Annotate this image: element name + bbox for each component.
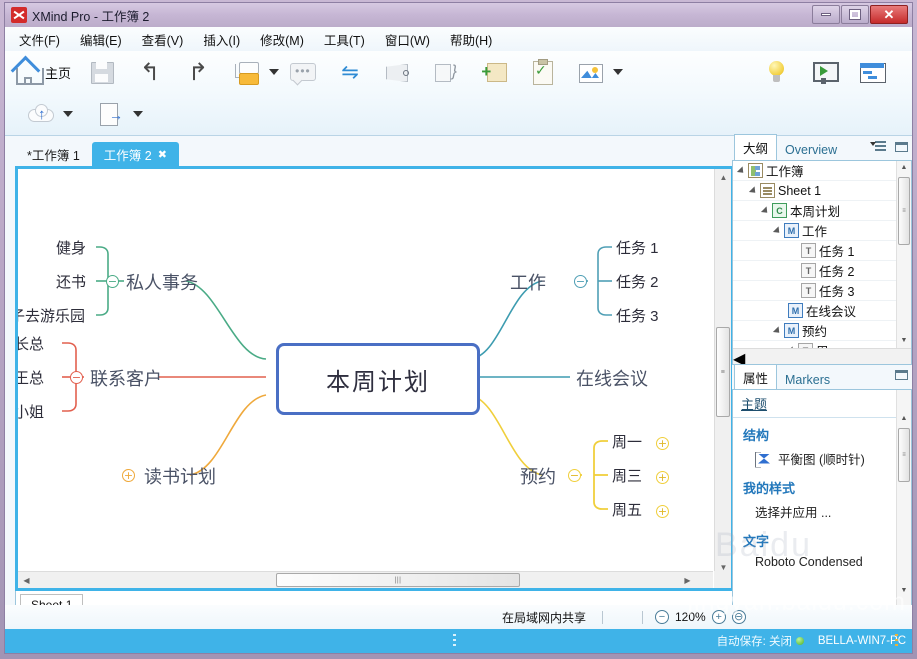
chevron-down-icon-image[interactable] xyxy=(613,69,623,75)
tab-overview[interactable]: Overview xyxy=(777,140,845,160)
outline-row-label: 预约 xyxy=(802,321,827,340)
pc-name-label: BELLA-WIN7-PC xyxy=(818,635,906,647)
leaf-task-2[interactable]: 任务 2 xyxy=(616,271,659,292)
leaf-miss[interactable]: 小姐 xyxy=(18,401,44,422)
scroll-right-arrow-icon[interactable]: ▶ xyxy=(679,572,696,589)
expander-work[interactable]: − xyxy=(574,275,587,288)
outline-row-task1[interactable]: T 任务 1 xyxy=(733,241,896,261)
expand-triangle-icon[interactable] xyxy=(773,326,782,335)
expander-contact-clients[interactable]: − xyxy=(70,371,83,384)
boundary-icon xyxy=(385,59,411,85)
mystyle-value-row[interactable]: 选择并应用 ... xyxy=(733,499,911,524)
minimize-panel-icon[interactable] xyxy=(895,370,908,380)
outline-row-label: 在线会议 xyxy=(806,301,856,320)
application-window: XMind Pro - 工作簿 2 ✕ 文件(F) 编辑(E) 查看(V) 插入… xyxy=(0,0,917,659)
leaf-task-1[interactable]: 任务 1 xyxy=(616,237,659,258)
menu-tools[interactable]: 工具(T) xyxy=(324,30,365,49)
outline-row-online-meeting[interactable]: M 在线会议 xyxy=(733,301,896,321)
outline-row-task2[interactable]: T 任务 2 xyxy=(733,261,896,281)
branch-online-meeting[interactable]: 在线会议 xyxy=(576,365,648,391)
insert-image-button[interactable] xyxy=(573,55,607,89)
properties-panel-tools xyxy=(895,370,908,380)
leaf-manager-zhang[interactable]: 长总 xyxy=(18,333,44,354)
expander-friday[interactable]: + xyxy=(656,505,669,518)
image-icon xyxy=(577,59,603,85)
structure-value: 平衡图 (顺时针) xyxy=(778,449,865,468)
topic-icon: T xyxy=(801,283,816,298)
export-button[interactable]: → xyxy=(93,97,127,131)
leaf-return-book[interactable]: 还书 xyxy=(56,271,86,292)
leaf-task-3[interactable]: 任务 3 xyxy=(616,305,659,326)
outline-row-label: 任务 3 xyxy=(819,281,854,300)
outline-row-label: 本周计划 xyxy=(790,201,840,220)
xmind-logo-icon xyxy=(11,7,27,23)
expander-monday[interactable]: + xyxy=(656,437,669,450)
expander-wednesday[interactable]: + xyxy=(656,471,669,484)
balanced-map-icon xyxy=(755,452,773,466)
task-info-button[interactable]: ✓ xyxy=(525,55,559,89)
outline-row-appointment[interactable]: M 预约 xyxy=(733,321,896,341)
outline-row-work[interactable]: M 工作 xyxy=(733,221,896,241)
scroll-up-arrow-icon[interactable]: ▲ xyxy=(715,169,732,186)
editor-tab-workbook2-label: 工作簿 2 xyxy=(104,145,152,164)
menu-bar: 文件(F) 编辑(E) 查看(V) 插入(I) 修改(M) 工具(T) 窗口(W… xyxy=(5,27,912,51)
menu-file[interactable]: 文件(F) xyxy=(19,30,60,49)
drag-handle-dots[interactable] xyxy=(453,634,456,648)
properties-panel-tabs: 属性 Markers xyxy=(732,366,912,390)
leaf-fitness[interactable]: 健身 xyxy=(56,237,86,258)
cloud-upload-icon: ↑ xyxy=(27,101,53,127)
leaf-monday[interactable]: 周一 xyxy=(612,431,642,452)
gantt-button[interactable] xyxy=(855,55,889,89)
zoom-fit-button[interactable]: ⊖ xyxy=(732,610,746,624)
leaf-amusement-park[interactable]: 子去游乐园 xyxy=(18,305,85,326)
expand-triangle-icon[interactable] xyxy=(773,226,782,235)
insert-topic-button[interactable] xyxy=(229,55,263,89)
expand-triangle-icon[interactable] xyxy=(737,166,746,175)
boundary-button[interactable] xyxy=(381,55,415,89)
menu-window[interactable]: 窗口(W) xyxy=(385,30,430,49)
brainstorm-button[interactable] xyxy=(759,55,793,89)
leaf-manager-wang[interactable]: 王总 xyxy=(18,367,44,388)
close-icon[interactable]: ✖ xyxy=(158,148,167,161)
editor-tab-strip: *工作簿 1 工作簿 2 ✖ xyxy=(5,136,734,166)
save-icon xyxy=(89,59,115,85)
scroll-down-arrow-icon[interactable]: ▼ xyxy=(897,334,911,348)
font-value-row[interactable]: Roboto Condensed xyxy=(733,552,911,572)
scroll-left-arrow-icon[interactable]: ◀ xyxy=(18,572,35,589)
leaf-wednesday[interactable]: 周三 xyxy=(612,465,642,486)
outline-rows: 工作簿 Sheet 1 C 本周计划 M 工作 xyxy=(733,161,896,361)
summary-icon: } xyxy=(433,59,459,85)
outline-panel-tools xyxy=(870,140,908,153)
outline-horizontal-scrollbar[interactable]: ◀ ||| ▶ xyxy=(733,348,912,364)
properties-vertical-scrollbar[interactable]: ▲ ≡ ▼ xyxy=(896,390,911,612)
share-status-label: 在局域网内共享 xyxy=(502,609,586,626)
outline-scroll-thumb[interactable]: ≡ xyxy=(898,177,910,245)
tab-properties[interactable]: 属性 xyxy=(734,364,777,390)
tab-outline[interactable]: 大纲 xyxy=(734,134,777,160)
home-button-label: 主页 xyxy=(45,63,71,82)
scroll-up-arrow-icon[interactable]: ▲ xyxy=(897,161,911,175)
outline-row-central-topic[interactable]: C 本周计划 xyxy=(733,201,896,221)
checklist-icon: ✓ xyxy=(529,59,555,85)
chevron-down-icon-share[interactable] xyxy=(63,111,73,117)
view-menu-icon[interactable] xyxy=(870,140,886,153)
outline-row-label: 工作簿 xyxy=(766,161,804,180)
menu-help[interactable]: 帮助(H) xyxy=(450,30,492,49)
branch-personal-affairs[interactable]: 私人事务 xyxy=(126,269,198,295)
horizontal-scroll-thumb[interactable]: ||| xyxy=(276,573,520,587)
chevron-down-icon-export[interactable] xyxy=(133,111,143,117)
right-panel: 大纲 Overview 工作簿 Sheet 1 xyxy=(732,136,912,613)
scrollbar-corner xyxy=(714,571,731,588)
canvas-horizontal-scrollbar[interactable]: ◀ ||| ▶ xyxy=(18,571,713,588)
topic-icon: T xyxy=(801,243,816,258)
relationship-icon: ⇋ xyxy=(337,59,363,85)
outline-row-task3[interactable]: T 任务 3 xyxy=(733,281,896,301)
comment-icon: ••• xyxy=(289,59,315,85)
toolbar: 主页 ↰ ↱ ••• ⇋ xyxy=(5,51,912,136)
main-topic-icon: M xyxy=(784,323,799,338)
redo-button[interactable]: ↱ xyxy=(181,55,215,89)
outline-row-workbook[interactable]: 工作簿 xyxy=(733,161,896,181)
minimize-button[interactable] xyxy=(812,5,840,24)
export-document-icon: → xyxy=(97,101,123,127)
zoom-in-button[interactable]: + xyxy=(712,610,726,624)
outline-tree[interactable]: 工作簿 Sheet 1 C 本周计划 M 工作 xyxy=(732,160,912,365)
save-button[interactable] xyxy=(85,55,119,89)
main-topic-icon: M xyxy=(788,303,803,318)
zoom-controls: − 120% + ⊖ xyxy=(655,610,746,624)
status-divider-2 xyxy=(642,611,643,624)
canvas-vertical-scrollbar[interactable]: ▲ ≡ ▼ xyxy=(714,169,731,576)
note-icon: + xyxy=(481,59,507,85)
title-bar: XMind Pro - 工作簿 2 ✕ xyxy=(5,3,912,27)
home-icon xyxy=(15,59,41,85)
section-structure-title: 结构 xyxy=(733,418,911,446)
properties-header: 主题 xyxy=(733,390,911,418)
outline-row-label: 工作 xyxy=(802,221,827,240)
outline-row-sheet1[interactable]: Sheet 1 xyxy=(733,181,896,201)
mindmap-canvas-container: 本周计划 私人事务 − 健身 还书 子去游乐园 联系客户 − 长总 王总 小姐 … xyxy=(15,166,734,591)
vertical-scroll-thumb[interactable]: ≡ xyxy=(716,327,730,417)
central-topic-icon: C xyxy=(772,203,787,218)
outline-panel-tabs: 大纲 Overview xyxy=(732,136,912,160)
comment-button[interactable]: ••• xyxy=(285,55,319,89)
expand-triangle-icon[interactable] xyxy=(749,186,758,195)
home-button[interactable]: 主页 xyxy=(15,55,71,89)
scroll-up-arrow-icon[interactable]: ▲ xyxy=(897,412,911,426)
chevron-down-icon[interactable] xyxy=(269,69,279,75)
scroll-left-arrow-icon[interactable]: ◀ xyxy=(733,349,912,365)
section-text-title: 文字 xyxy=(733,524,911,552)
expander-reading-plan[interactable]: + xyxy=(122,469,135,482)
status-dot xyxy=(796,637,804,645)
menu-edit[interactable]: 编辑(E) xyxy=(80,30,122,49)
outline-row-label: 任务 1 xyxy=(819,241,854,260)
window-title: XMind Pro - 工作簿 2 xyxy=(32,6,149,25)
editor-tab-workbook1[interactable]: *工作簿 1 xyxy=(15,142,92,166)
structure-value-row[interactable]: 平衡图 (顺时针) xyxy=(733,446,911,471)
editor-tab-workbook2[interactable]: 工作簿 2 ✖ xyxy=(92,142,179,166)
topic-icon xyxy=(233,59,259,85)
menu-view[interactable]: 查看(V) xyxy=(142,30,184,49)
drag-handle-dots-right[interactable] xyxy=(895,634,898,648)
leaf-friday[interactable]: 周五 xyxy=(612,499,642,520)
editor-tab-workbook1-label: *工作簿 1 xyxy=(27,145,80,164)
section-mystyle-title: 我的样式 xyxy=(733,471,911,499)
outline-row-label: Sheet 1 xyxy=(778,184,821,198)
sheet-icon xyxy=(760,183,775,198)
expander-appointment[interactable]: − xyxy=(568,469,581,482)
outline-row-label: 任务 2 xyxy=(819,261,854,280)
topic-icon: T xyxy=(801,263,816,278)
lightbulb-icon xyxy=(763,59,789,85)
branch-contact-clients[interactable]: 联系客户 xyxy=(90,365,162,391)
menu-modify[interactable]: 修改(M) xyxy=(260,30,304,49)
undo-button[interactable]: ↰ xyxy=(133,55,167,89)
presentation-button[interactable] xyxy=(807,55,841,89)
central-topic[interactable]: 本周计划 xyxy=(276,343,480,415)
outline-vertical-scrollbar[interactable]: ▲ ≡ ▼ xyxy=(896,161,911,348)
status-bar: 在局域网内共享 − 120% + ⊖ xyxy=(5,605,912,629)
minimize-panel-icon[interactable] xyxy=(895,142,908,152)
undo-arrow-icon: ↰ xyxy=(137,59,163,85)
zoom-level-value: 120% xyxy=(675,610,706,624)
close-button[interactable]: ✕ xyxy=(870,5,908,24)
properties-panel: 主题 结构 平衡图 (顺时针) 我的样式 选择并应用 ... 文字 Roboto… xyxy=(732,389,912,613)
branch-work[interactable]: 工作 xyxy=(510,269,546,295)
properties-scroll-thumb[interactable]: ≡ xyxy=(898,428,910,482)
toolbar-row-secondary: ↑ → xyxy=(5,93,912,135)
branch-appointment[interactable]: 预约 xyxy=(520,463,556,489)
expander-personal-affairs[interactable]: − xyxy=(106,275,119,288)
scroll-down-arrow-icon[interactable]: ▼ xyxy=(897,584,911,598)
maximize-button[interactable] xyxy=(841,5,869,24)
font-value: Roboto Condensed xyxy=(755,555,863,569)
presentation-icon xyxy=(811,59,837,85)
workbook-icon xyxy=(748,163,763,178)
branch-reading-plan[interactable]: 读书计划 xyxy=(144,463,216,489)
menu-insert[interactable]: 插入(I) xyxy=(203,30,240,49)
redo-arrow-icon: ↱ xyxy=(185,59,211,85)
mystyle-value: 选择并应用 ... xyxy=(755,502,831,521)
share-upload-button[interactable]: ↑ xyxy=(23,97,57,131)
status-divider xyxy=(602,611,603,624)
main-topic-icon: M xyxy=(784,223,799,238)
summary-button[interactable]: } xyxy=(429,55,463,89)
window-inner-frame: XMind Pro - 工作簿 2 ✕ 文件(F) 编辑(E) 查看(V) 插入… xyxy=(4,2,913,654)
bottom-bar: 自动保存: 关闭 BELLA-WIN7-PC xyxy=(5,629,912,653)
toolbar-row-primary: 主页 ↰ ↱ ••• ⇋ xyxy=(5,51,912,93)
mindmap-canvas[interactable]: 本周计划 私人事务 − 健身 还书 子去游乐园 联系客户 − 长总 王总 小姐 … xyxy=(18,169,713,576)
tab-markers[interactable]: Markers xyxy=(777,370,838,390)
gantt-chart-icon xyxy=(859,59,885,85)
relationship-button[interactable]: ⇋ xyxy=(333,55,367,89)
note-button[interactable]: + xyxy=(477,55,511,89)
auto-save-status: 自动保存: 关闭 xyxy=(717,633,792,649)
expand-triangle-icon[interactable] xyxy=(761,206,770,215)
zoom-out-button[interactable]: − xyxy=(655,610,669,624)
window-controls[interactable]: ✕ xyxy=(812,5,908,24)
